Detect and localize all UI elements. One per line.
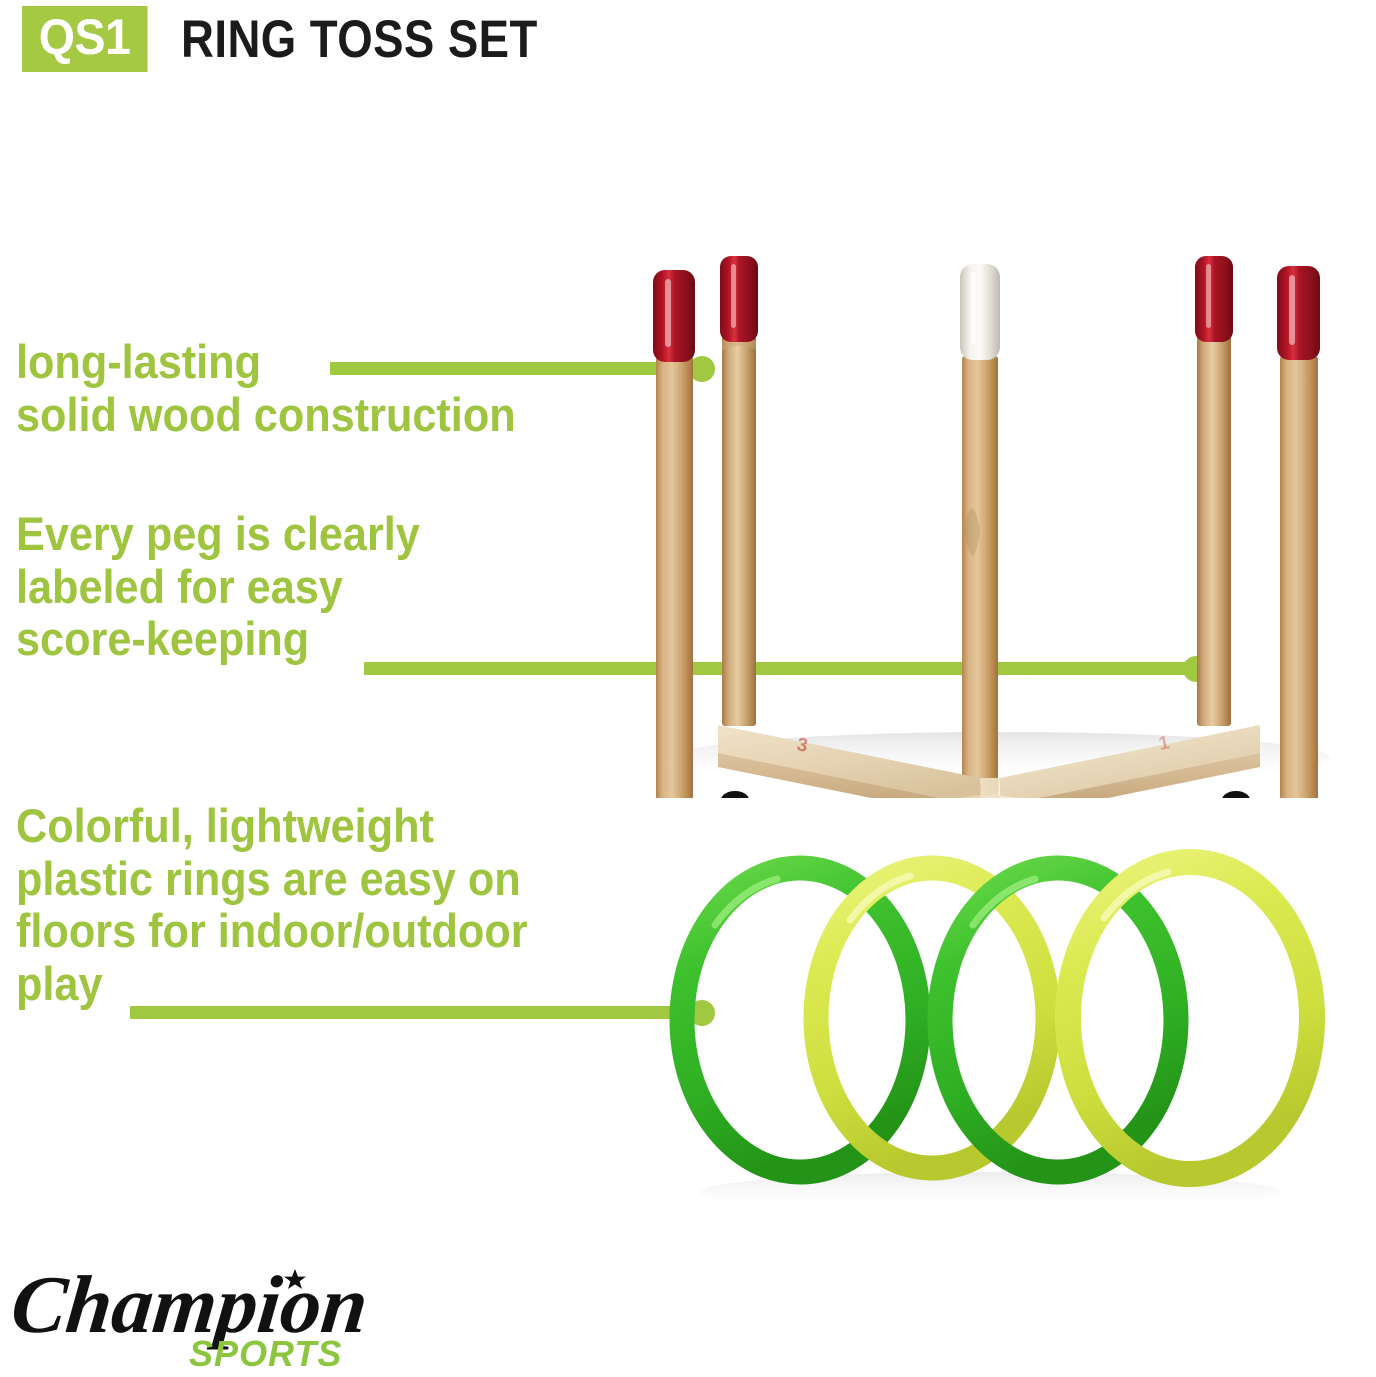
callout-line: floors for indoor/outdoor [16,905,528,958]
callout-line: play [16,958,528,1011]
champion-sports-logo: Champion SPORTS [14,1248,394,1374]
peg-center-white [960,264,1000,796]
rubber-foot [1222,791,1250,798]
ring-yellow-2 [1068,862,1312,1174]
callout-line: Every peg is clearly [16,508,420,561]
infographic-canvas: QS1 RING TOSS SET long-lasting solid woo… [0,0,1376,1377]
header: QS1 RING TOSS SET [22,6,595,72]
callout-plastic-rings: Colorful, lightweight plastic rings are … [16,800,572,1011]
plastic-rings-photo [660,820,1340,1220]
callout-line: plastic rings are easy on [16,853,528,906]
callout-line: Colorful, lightweight [16,800,528,853]
peg-back-left [720,256,758,726]
ring-toss-stand-photo: 3 1 5 [600,238,1376,798]
callout-line: score-keeping [16,613,420,666]
base-center-joint [980,778,1000,798]
rubber-foot [721,791,749,798]
peg-front-right [1277,266,1320,798]
peg-front-left [653,270,695,798]
sku-badge: QS1 [22,6,147,72]
leader-line-plastic-rings [130,1006,702,1019]
callout-line: solid wood construction [16,389,516,442]
peg-back-right [1195,256,1233,726]
callout-solid-wood: long-lasting solid wood construction [16,336,559,441]
logo-wordmark-sports: SPORTS [189,1333,342,1374]
callout-labeled-pegs: Every peg is clearly labeled for easy sc… [16,508,455,666]
callout-line: labeled for easy [16,561,420,614]
page-title: RING TOSS SET [181,9,538,70]
ring-green-1 [682,868,918,1172]
